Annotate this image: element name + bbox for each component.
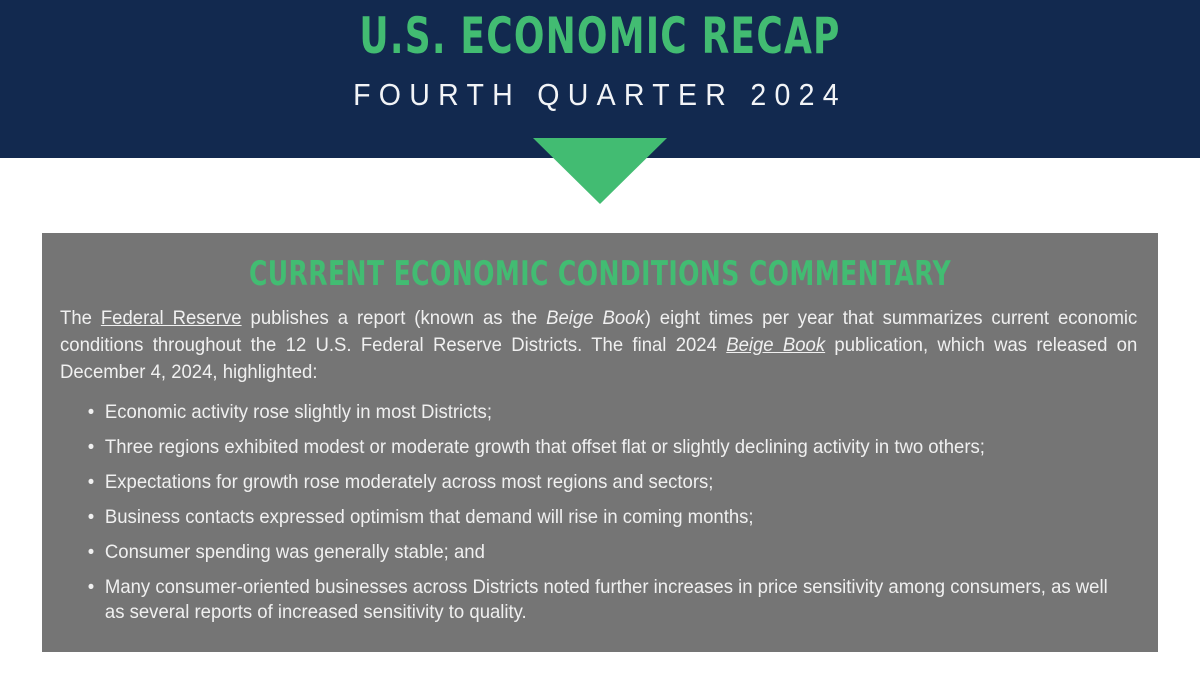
bullet-marker-icon: • (88, 435, 94, 460)
list-item: • Expectations for growth rose moderatel… (84, 470, 1127, 495)
list-item: • Business contacts expressed optimism t… (84, 505, 1127, 530)
triangle-down-icon (533, 138, 667, 204)
bullet-marker-icon: • (88, 505, 94, 530)
list-item-label: Economic activity rose slightly in most … (105, 401, 492, 423)
list-item: • Consumer spending was generally stable… (84, 540, 1127, 565)
list-item: • Three regions exhibited modest or mode… (84, 435, 1127, 460)
panel-body: The Federal Reserve publishes a report (… (42, 305, 1158, 625)
bullet-marker-icon: • (88, 470, 94, 495)
bullet-marker-icon: • (88, 575, 94, 600)
list-item: • Economic activity rose slightly in mos… (84, 400, 1127, 425)
highlights-list: • Economic activity rose slightly in mos… (60, 400, 1140, 625)
beige-book-italic: Beige Book (546, 307, 645, 329)
list-item-label: Business contacts expressed optimism tha… (105, 506, 754, 528)
page-subtitle: FOURTH QUARTER 2024 (48, 76, 1152, 114)
panel-heading: CURRENT ECONOMIC CONDITIONS COMMENTARY (142, 233, 1057, 293)
list-item-label: Consumer spending was generally stable; … (105, 541, 485, 563)
header-bar: U.S. ECONOMIC RECAP FOURTH QUARTER 2024 (0, 0, 1200, 158)
beige-book-link[interactable]: Beige Book (726, 334, 825, 356)
commentary-panel: CURRENT ECONOMIC CONDITIONS COMMENTARY T… (42, 233, 1158, 652)
bullet-marker-icon: • (88, 400, 94, 425)
list-item: • Many consumer-oriented businesses acro… (84, 575, 1127, 625)
intro-paragraph: The Federal Reserve publishes a report (… (60, 305, 1137, 386)
federal-reserve-link[interactable]: Federal Reserve (101, 307, 242, 329)
list-item-label: Many consumer-oriented businesses across… (105, 576, 1108, 623)
intro-text-part1: The (60, 307, 101, 329)
intro-text-part2: publishes a report (known as the (242, 307, 547, 329)
page-title: U.S. ECONOMIC RECAP (120, 8, 1080, 64)
list-item-label: Three regions exhibited modest or modera… (105, 436, 985, 458)
list-item-label: Expectations for growth rose moderately … (105, 471, 714, 493)
bullet-marker-icon: • (88, 540, 94, 565)
